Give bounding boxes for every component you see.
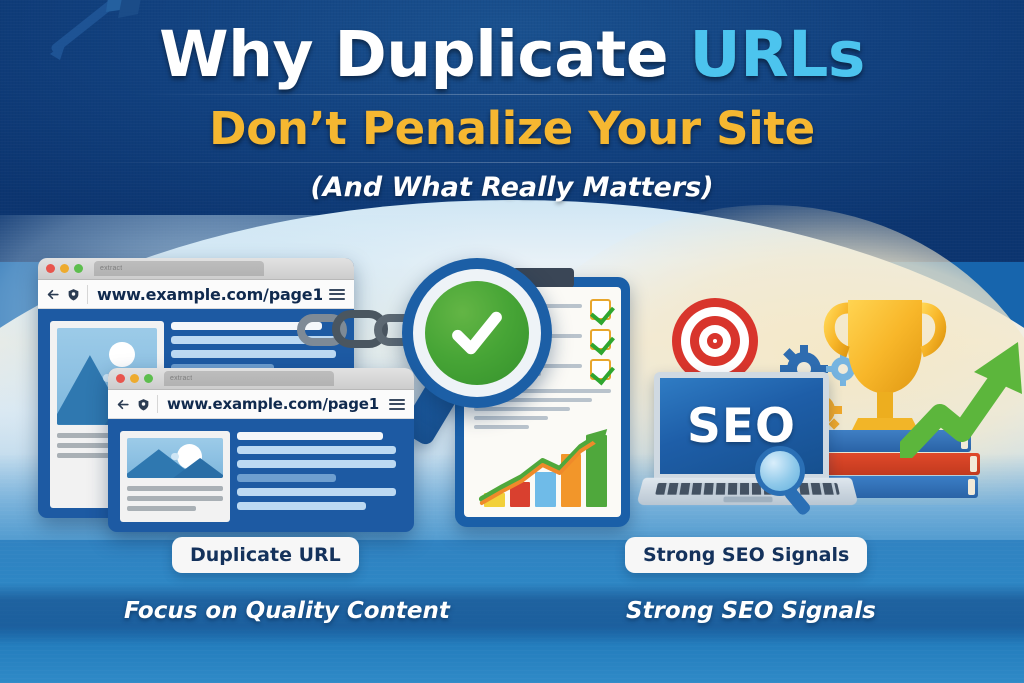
browser-tabbar: extract <box>108 368 414 390</box>
hamburger-menu-icon[interactable] <box>329 289 345 300</box>
browser-page-content <box>108 419 414 532</box>
small-magnifying-glass-icon <box>755 446 817 516</box>
chain-link-icon <box>296 306 416 352</box>
url-text[interactable]: www.example.com/page1 <box>87 285 322 304</box>
back-arrow-icon[interactable] <box>47 288 60 301</box>
browser-urlbar: www.example.com/page1 <box>38 280 354 309</box>
page-text-lines <box>237 432 403 510</box>
shield-icon[interactable] <box>137 398 150 411</box>
duplicate-url-pill: Duplicate URL <box>172 537 359 573</box>
close-button[interactable] <box>116 374 125 383</box>
title-plain: Why Duplicate <box>159 18 689 91</box>
arrow-dart-icon <box>36 0 146 88</box>
green-check-icon <box>590 359 611 380</box>
green-check-icon <box>590 299 611 320</box>
hamburger-menu-icon[interactable] <box>389 399 405 410</box>
title-highlight: URLs <box>690 18 865 91</box>
laptop-base <box>636 478 859 505</box>
page-title: Why Duplicate URLs <box>0 22 1024 88</box>
browser-tab[interactable]: extract <box>164 371 334 386</box>
card-text-lines <box>127 486 223 511</box>
small-magnifier-lens <box>755 446 805 496</box>
magnifying-glass-icon <box>402 258 572 463</box>
browser-tab[interactable]: extract <box>94 261 264 276</box>
browser-urlbar: www.example.com/page1 <box>108 390 414 419</box>
browser-tab-label: extract <box>170 375 192 382</box>
caption-right: Strong SEO Signals <box>626 598 876 624</box>
back-arrow-icon[interactable] <box>117 398 130 411</box>
growth-arrow-icon <box>900 328 1024 458</box>
maximize-button[interactable] <box>144 374 153 383</box>
sun-icon <box>109 342 135 368</box>
front-browser-window[interactable]: extract www.example.com/page1 <box>108 368 414 532</box>
strong-seo-signals-pill: Strong SEO Signals <box>625 537 867 573</box>
title-block: Why Duplicate URLs Don’t Penalize Your S… <box>0 0 1024 203</box>
maximize-button[interactable] <box>74 264 83 273</box>
minimize-button[interactable] <box>60 264 69 273</box>
tagline: (And What Really Matters) <box>0 172 1024 203</box>
caption-left: Focus on Quality Content <box>124 598 450 624</box>
green-check-icon <box>590 329 611 350</box>
green-check-icon <box>448 304 506 362</box>
magnifier-lens <box>425 281 529 385</box>
subtitle-divider <box>72 162 952 163</box>
image-placeholder-icon <box>127 438 223 478</box>
close-button[interactable] <box>46 264 55 273</box>
subtitle: Don’t Penalize Your Site <box>0 102 1024 155</box>
shield-icon[interactable] <box>67 288 80 301</box>
title-divider <box>132 94 892 95</box>
minimize-button[interactable] <box>130 374 139 383</box>
laptop-icon: SEO <box>640 372 855 507</box>
infographic-canvas: Why Duplicate URLs Don’t Penalize Your S… <box>0 0 1024 683</box>
browser-tabbar: extract <box>38 258 354 280</box>
url-text[interactable]: www.example.com/page1 <box>157 395 382 413</box>
browser-tab-label: extract <box>100 265 122 272</box>
content-card <box>120 431 230 522</box>
